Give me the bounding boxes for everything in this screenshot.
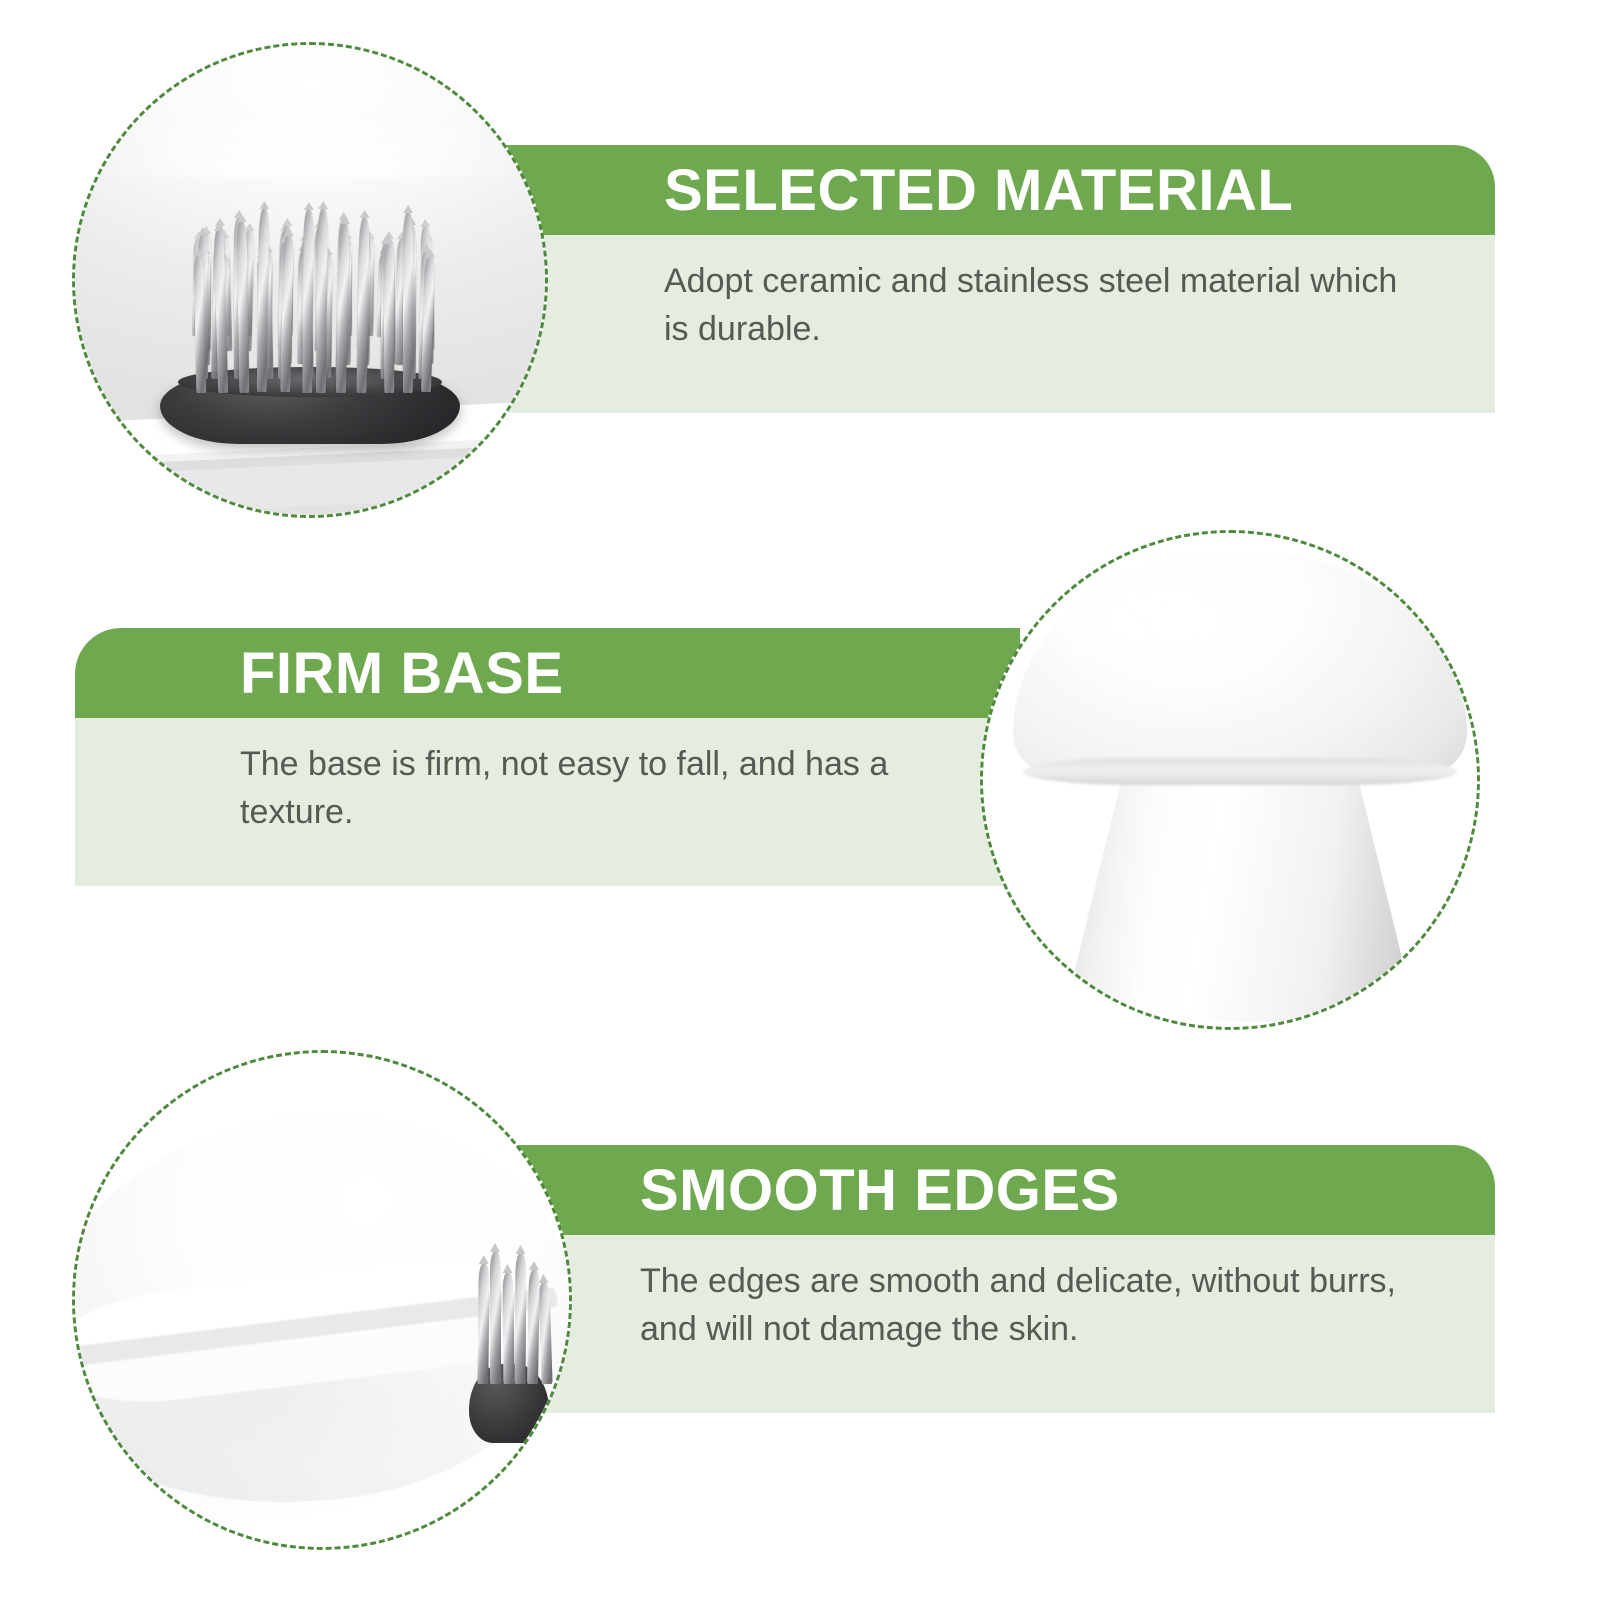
feature-title: SELECTED MATERIAL bbox=[664, 162, 1293, 220]
steel-pins-cluster bbox=[193, 205, 437, 393]
feature-title: FIRM BASE bbox=[240, 645, 564, 703]
steel-pin bbox=[539, 1282, 553, 1384]
photo-inner bbox=[75, 1053, 569, 1547]
steel-pins-glimpse bbox=[460, 1246, 569, 1444]
foot-shading bbox=[1062, 775, 1418, 1022]
feature-title: SMOOTH EDGES bbox=[640, 1162, 1120, 1220]
feature-description: The base is firm, not easy to fall, and … bbox=[240, 740, 960, 837]
steel-pin bbox=[256, 208, 269, 393]
steel-pin bbox=[502, 1272, 514, 1384]
steel-pin bbox=[384, 243, 395, 393]
dome-groove bbox=[1023, 758, 1458, 785]
steel-pin bbox=[515, 1253, 527, 1384]
product-photo-smooth-edge bbox=[72, 1050, 572, 1550]
product-photo-kenzan-pins bbox=[72, 42, 548, 518]
steel-pin bbox=[402, 212, 412, 393]
feature-card-firm-base: FIRM BASE The base is firm, not easy to … bbox=[75, 628, 1020, 886]
infographic-canvas: SELECTED MATERIAL Adopt ceramic and stai… bbox=[0, 0, 1600, 1600]
steel-pin bbox=[302, 209, 314, 393]
dome-highlight bbox=[1052, 577, 1299, 686]
steel-pin bbox=[490, 1251, 501, 1384]
feature-description: The edges are smooth and delicate, witho… bbox=[640, 1257, 1430, 1354]
feature-description: Adopt ceramic and stainless steel materi… bbox=[664, 257, 1424, 354]
photo-inner bbox=[75, 45, 545, 515]
steel-pin bbox=[236, 221, 249, 393]
product-photo-ceramic-base bbox=[980, 530, 1480, 1030]
rim-highlight bbox=[75, 73, 545, 176]
steel-pin bbox=[527, 1269, 540, 1384]
steel-pin bbox=[477, 1263, 489, 1384]
photo-inner bbox=[983, 533, 1477, 1027]
